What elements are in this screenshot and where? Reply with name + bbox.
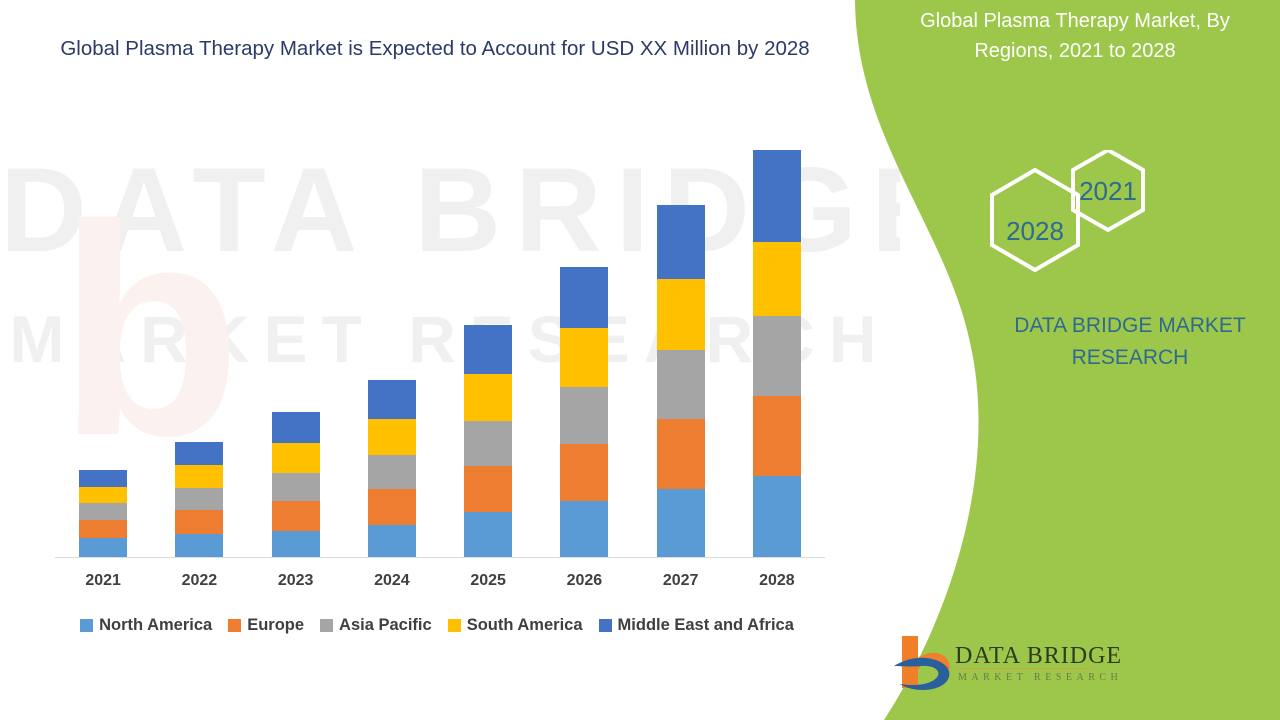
bar-segment[interactable] bbox=[175, 510, 223, 534]
bar-segment[interactable] bbox=[753, 396, 801, 476]
bar-segment[interactable] bbox=[464, 421, 512, 466]
bar-segment[interactable] bbox=[175, 534, 223, 558]
legend-label: North America bbox=[99, 616, 212, 635]
legend-swatch bbox=[320, 619, 333, 632]
legend-swatch bbox=[80, 619, 93, 632]
legend-item[interactable]: Europe bbox=[228, 616, 304, 635]
legend-label: Middle East and Africa bbox=[618, 616, 794, 635]
bar-segment[interactable] bbox=[272, 412, 320, 443]
bar-segment[interactable] bbox=[175, 442, 223, 465]
bar-group[interactable] bbox=[753, 150, 801, 558]
x-axis-tick-label: 2026 bbox=[536, 572, 632, 590]
x-axis-tick-label: 2028 bbox=[729, 572, 825, 590]
x-axis-tick-label: 2022 bbox=[151, 572, 247, 590]
bar-segment[interactable] bbox=[753, 476, 801, 558]
plot-area bbox=[55, 120, 825, 558]
hexagon-small-label: 2021 bbox=[1079, 176, 1137, 206]
bar-group[interactable] bbox=[464, 325, 512, 558]
bar-group[interactable] bbox=[79, 470, 127, 558]
bar-segment[interactable] bbox=[560, 444, 608, 501]
chart-legend: North AmericaEuropeAsia PacificSouth Ame… bbox=[42, 616, 832, 635]
bar-segment[interactable] bbox=[560, 267, 608, 328]
bar-segment[interactable] bbox=[464, 374, 512, 421]
chart-panel: b DATA BRIDGE MARKET RESEARCH Global Pla… bbox=[0, 0, 860, 720]
bar-group[interactable] bbox=[272, 412, 320, 558]
legend-item[interactable]: South America bbox=[448, 616, 583, 635]
bar-segment[interactable] bbox=[560, 387, 608, 444]
bar-segment[interactable] bbox=[753, 242, 801, 316]
bar-segment[interactable] bbox=[560, 328, 608, 387]
bar-group[interactable] bbox=[560, 267, 608, 558]
bar-group[interactable] bbox=[175, 442, 223, 558]
bar-segment[interactable] bbox=[175, 488, 223, 510]
bar-segment[interactable] bbox=[79, 487, 127, 503]
bar-segment[interactable] bbox=[368, 455, 416, 489]
bar-segment[interactable] bbox=[464, 325, 512, 374]
bar-segment[interactable] bbox=[79, 503, 127, 519]
hexagon-large-label: 2028 bbox=[1006, 216, 1064, 246]
bar-segment[interactable] bbox=[368, 525, 416, 558]
logo-divider bbox=[955, 668, 1093, 669]
bar-group[interactable] bbox=[368, 380, 416, 558]
x-axis-tick-label: 2024 bbox=[344, 572, 440, 590]
chart-title: Global Plasma Therapy Market is Expected… bbox=[40, 34, 830, 64]
bar-segment[interactable] bbox=[368, 419, 416, 455]
hexagon-graphic: 2028 2021 bbox=[975, 150, 1175, 280]
bar-segment[interactable] bbox=[464, 466, 512, 512]
legend-label: South America bbox=[467, 616, 583, 635]
bar-segment[interactable] bbox=[657, 350, 705, 419]
bar-segment[interactable] bbox=[79, 470, 127, 486]
legend-label: Asia Pacific bbox=[339, 616, 432, 635]
logo-subtitle: MARKET RESEARCH bbox=[958, 672, 1122, 683]
x-axis-tick-label: 2027 bbox=[633, 572, 729, 590]
x-axis-tick-label: 2021 bbox=[55, 572, 151, 590]
legend-swatch bbox=[448, 619, 461, 632]
legend-label: Europe bbox=[247, 616, 304, 635]
brand-name: DATA BRIDGE MARKET RESEARCH bbox=[960, 310, 1280, 374]
bar-segment[interactable] bbox=[79, 520, 127, 539]
bar-segment[interactable] bbox=[79, 538, 127, 558]
legend-item[interactable]: Asia Pacific bbox=[320, 616, 432, 635]
bar-segment[interactable] bbox=[560, 501, 608, 558]
bar-segment[interactable] bbox=[657, 279, 705, 350]
x-axis-line bbox=[55, 557, 825, 558]
bar-segment[interactable] bbox=[175, 465, 223, 488]
bar-segment[interactable] bbox=[753, 150, 801, 242]
bar-segment[interactable] bbox=[272, 443, 320, 473]
bar-segment[interactable] bbox=[657, 419, 705, 489]
bar-group[interactable] bbox=[657, 205, 705, 558]
bar-segment[interactable] bbox=[272, 473, 320, 501]
bar-segment[interactable] bbox=[368, 489, 416, 525]
bar-segment[interactable] bbox=[657, 205, 705, 278]
legend-swatch bbox=[599, 619, 612, 632]
legend-item[interactable]: North America bbox=[80, 616, 212, 635]
bar-segment[interactable] bbox=[368, 380, 416, 419]
logo-wordmark: DATA BRIDGE bbox=[955, 643, 1122, 670]
bar-segment[interactable] bbox=[464, 512, 512, 558]
bar-segment[interactable] bbox=[272, 501, 320, 531]
panel-title: Global Plasma Therapy Market, By Regions… bbox=[880, 6, 1270, 66]
bar-segment[interactable] bbox=[753, 316, 801, 396]
x-axis-tick-label: 2023 bbox=[248, 572, 344, 590]
bar-segment[interactable] bbox=[272, 531, 320, 558]
bar-segment[interactable] bbox=[657, 489, 705, 558]
x-axis-tick-label: 2025 bbox=[440, 572, 536, 590]
legend-swatch bbox=[228, 619, 241, 632]
legend-item[interactable]: Middle East and Africa bbox=[599, 616, 794, 635]
